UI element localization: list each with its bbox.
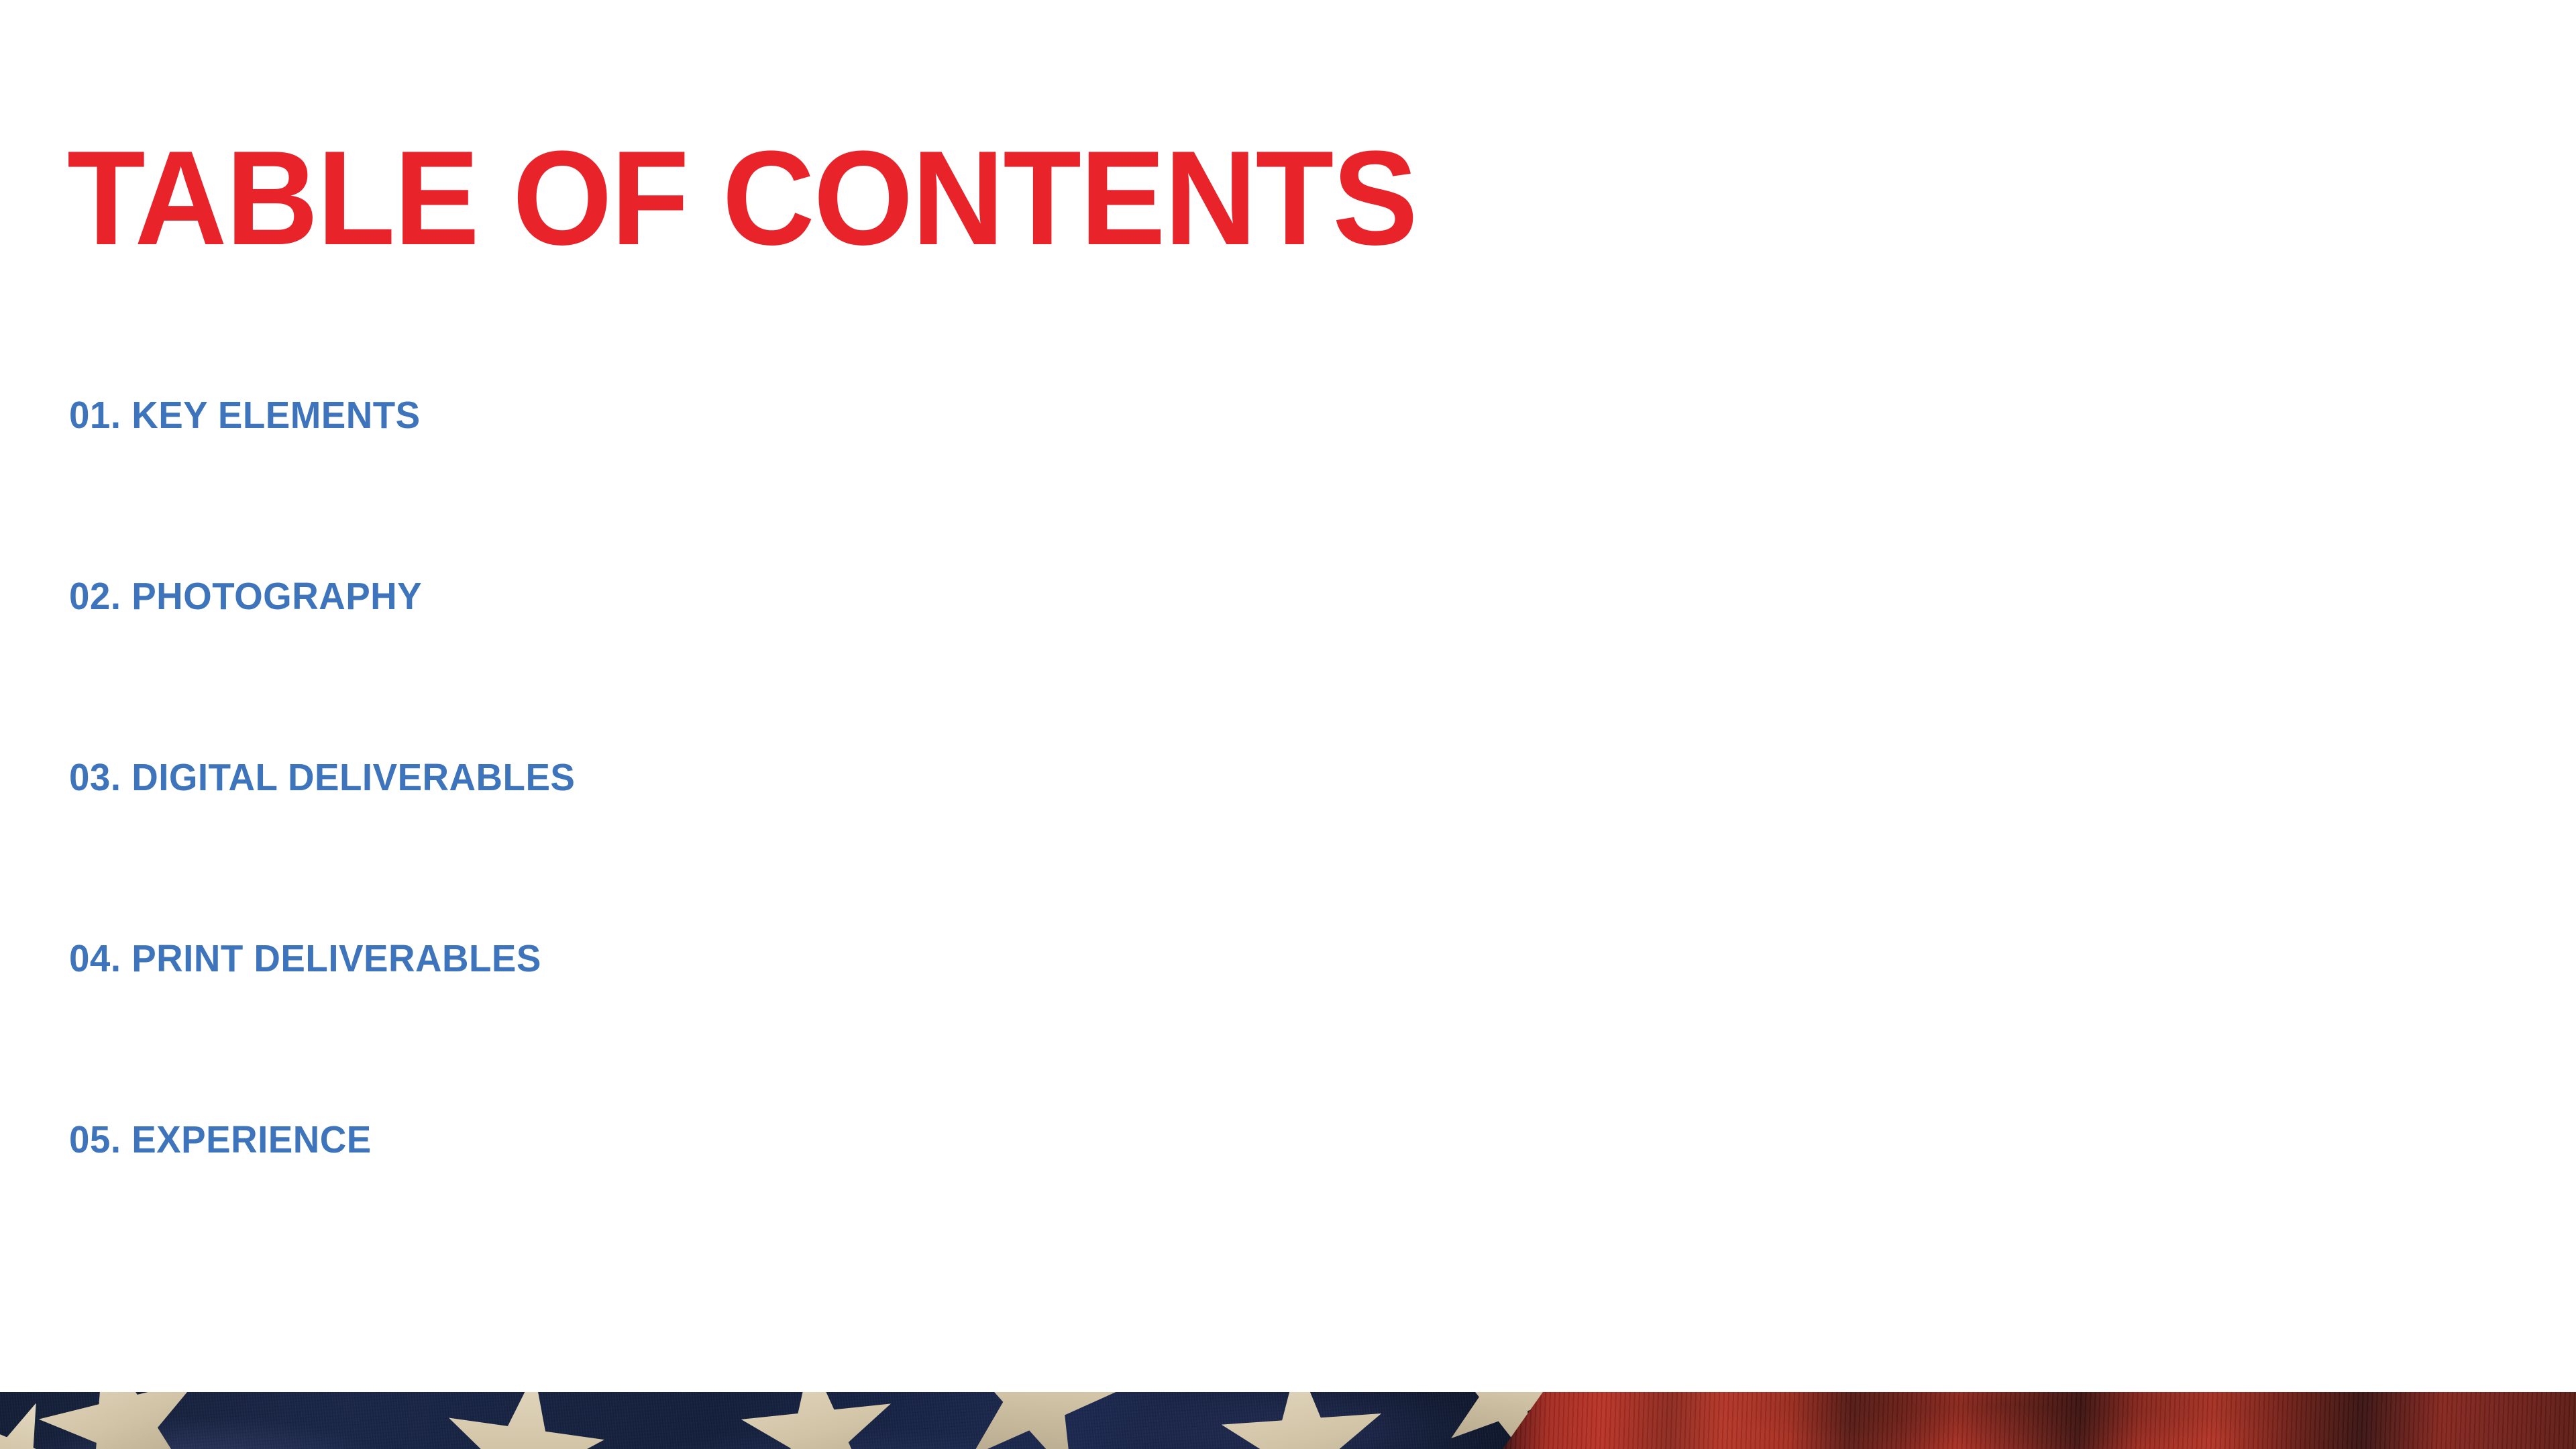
flag-red-stripes [1503,1392,2576,1449]
toc-item-01[interactable]: 01. KEY ELEMENTS [69,394,575,576]
toc-item-04[interactable]: 04. PRINT DELIVERABLES [69,938,575,1119]
page-title: TABLE OF CONTENTS [67,131,1417,266]
toc-item-03[interactable]: 03. DIGITAL DELIVERABLES [69,757,575,938]
table-of-contents-list: 01. KEY ELEMENTS 02. PHOTOGRAPHY 03. DIG… [69,394,596,1161]
slide-canvas: TABLE OF CONTENTS 01. KEY ELEMENTS 02. P… [0,0,2576,1449]
flag-footer-image [0,1392,2576,1449]
toc-item-05[interactable]: 05. EXPERIENCE [69,1119,575,1161]
toc-item-02[interactable]: 02. PHOTOGRAPHY [69,576,575,757]
